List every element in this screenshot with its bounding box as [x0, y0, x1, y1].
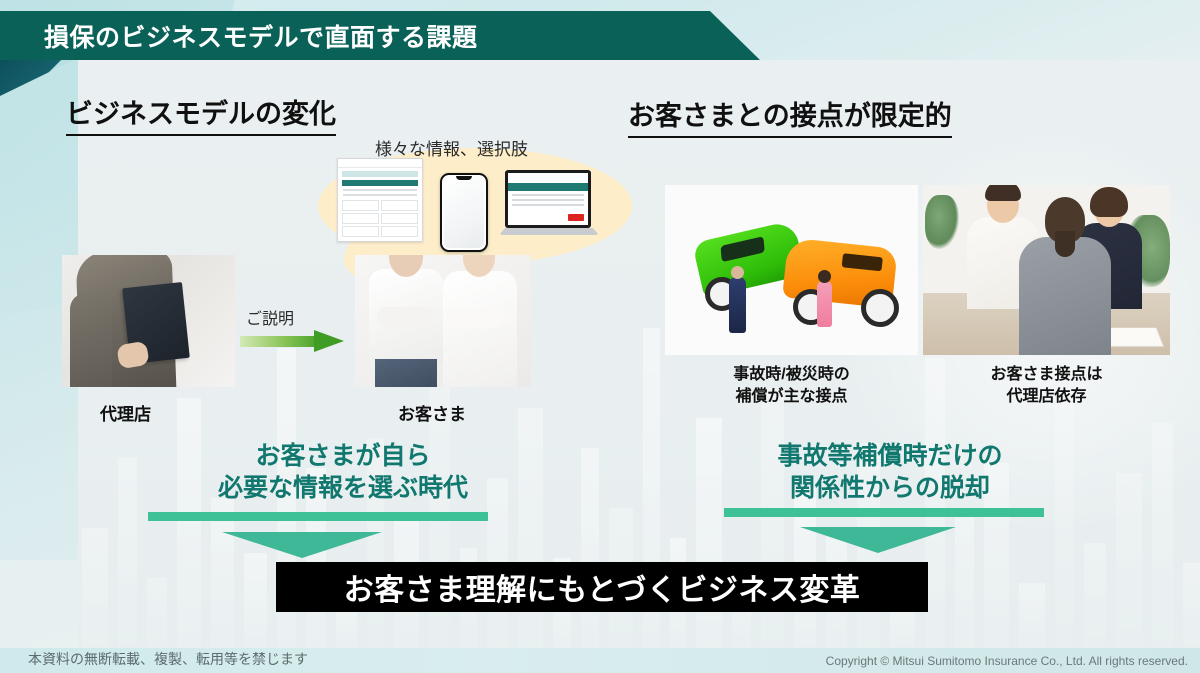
webcard-cell: [342, 226, 379, 237]
slide-root: 損保のビジネスモデルで直面する課題 ビジネスモデルの変化 お客さまとの接点が限定…: [0, 0, 1200, 673]
footer-copyright: Copyright © Mitsui Sumitomo Insurance Co…: [826, 654, 1188, 668]
laptop-screen-line: [512, 194, 584, 196]
webcard-cell: [381, 200, 418, 211]
conclusion-text: お客さま理解にもとづくビジネス変革: [344, 565, 861, 609]
car-wheel: [861, 289, 899, 327]
laptop-base: [499, 228, 599, 235]
statement-left-line1: お客さまが自ら: [148, 440, 538, 472]
laptop-screen-header: [508, 173, 588, 183]
slide-title-banner: 損保のビジネスモデルで直面する課題: [0, 11, 760, 60]
accident-photo: [665, 185, 918, 355]
laptop-screen-logo: [568, 214, 584, 221]
laptop-screen-line: [512, 204, 584, 206]
flow-arrow-shaft: [240, 336, 318, 347]
laptop-screen: [508, 173, 588, 225]
webcard-grid: [342, 200, 418, 237]
statement-right-underline: [724, 508, 1044, 517]
webcard-cell: [381, 226, 418, 237]
webcard-line: [343, 194, 417, 196]
miniature-man-figure: [729, 277, 746, 333]
caption-consult-line2: 代理店依存: [923, 386, 1170, 408]
section-heading-left: ビジネスモデルの変化: [66, 92, 336, 136]
flow-arrow-icon: [240, 330, 348, 352]
down-arrow-left-icon: [222, 532, 382, 558]
website-screenshot-icon: [337, 158, 423, 242]
conclusion-banner: お客さま理解にもとづくビジネス変革: [276, 562, 928, 612]
plant-icon: [925, 195, 959, 249]
laptop-screen-navbar: [508, 183, 588, 191]
caption-accident: 事故時/被災時の 補償が主な接点: [665, 364, 918, 407]
down-arrow-right-icon: [800, 527, 956, 553]
statement-right-line2: 関係性からの脱却: [718, 472, 1062, 504]
customer-female-arm: [447, 309, 505, 327]
caption-consult-line1: お客さま接点は: [923, 364, 1170, 386]
caption-accident-line2: 補償が主な接点: [665, 386, 918, 408]
footer-notice: 本資料の無断転載、複製、転用等を禁じます: [28, 649, 308, 669]
caption-consult: お客さま接点は 代理店依存: [923, 364, 1170, 407]
webcard-bar: [342, 171, 418, 177]
customer-female-body: [443, 271, 517, 387]
consult-agent: [1019, 237, 1111, 355]
agent-photo: [62, 255, 235, 387]
agent-arm: [70, 293, 112, 387]
statement-left: お客さまが自ら 必要な情報を選ぶ時代: [148, 440, 538, 504]
smartphone-notch: [456, 176, 472, 180]
section-heading-right: お客さまとの接点が限定的: [628, 94, 952, 138]
flow-arrow-label: ご説明: [246, 305, 294, 329]
flow-arrow-head: [314, 330, 344, 352]
statement-right: 事故等補償時だけの 関係性からの脱却: [718, 440, 1062, 504]
speech-bubble-label: 様々な情報、選択肢: [375, 135, 528, 160]
customer-male-arm: [377, 307, 435, 327]
statement-right-line1: 事故等補償時だけの: [718, 440, 1062, 472]
statement-left-underline: [148, 512, 488, 521]
laptop-lid: [505, 170, 591, 228]
laptop-icon: [499, 170, 599, 246]
customer-photo: [355, 255, 531, 387]
webcard-cell: [342, 213, 379, 224]
customer-male-jeans: [375, 359, 437, 387]
webcard-bar-highlight: [342, 180, 418, 186]
laptop-screen-line: [512, 199, 584, 201]
consultation-photo: [923, 185, 1170, 355]
caption-customer: お客さま: [398, 400, 466, 425]
smartphone-screen: [444, 177, 484, 248]
statement-left-line2: 必要な情報を選ぶ時代: [148, 472, 538, 504]
caption-accident-line1: 事故時/被災時の: [665, 364, 918, 386]
miniature-girl-figure: [817, 281, 832, 327]
webcard-cell: [381, 213, 418, 224]
webcard-header: [338, 159, 422, 168]
webcard-line: [343, 189, 417, 191]
smartphone-icon: [440, 173, 488, 252]
webcard-cell: [342, 200, 379, 211]
caption-agent: 代理店: [100, 400, 151, 425]
slide-title: 損保のビジネスモデルで直面する課題: [44, 18, 478, 54]
